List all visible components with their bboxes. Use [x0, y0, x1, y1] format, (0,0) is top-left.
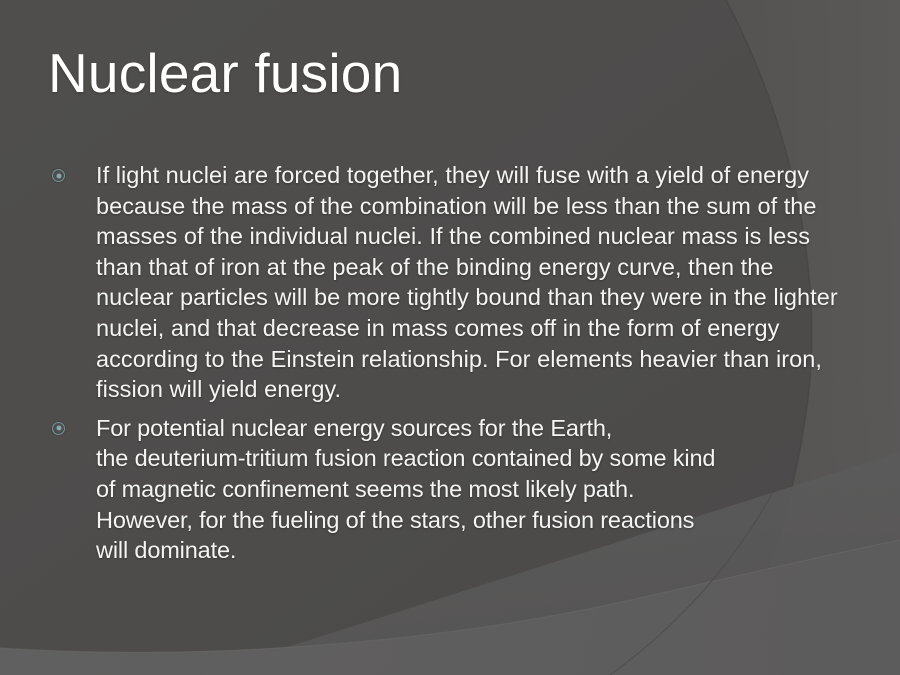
title-placeholder: Nuclear fusion [48, 44, 748, 103]
ring-bullet-icon [52, 169, 65, 182]
bullet-marker [52, 413, 96, 435]
list-item: For potential nuclear energy sources for… [52, 413, 842, 566]
bullet-text-1: If light nuclei are forced together, the… [96, 160, 842, 405]
bullet-marker [52, 160, 96, 182]
ring-bullet-icon [52, 422, 65, 435]
presentation-slide: Nuclear fusion If light nuclei are force… [0, 0, 900, 675]
content-placeholder: If light nuclei are forced together, the… [52, 160, 842, 566]
bullet-text-2: For potential nuclear energy sources for… [96, 413, 842, 566]
list-item: If light nuclei are forced together, the… [52, 160, 842, 405]
page-title: Nuclear fusion [48, 44, 748, 103]
